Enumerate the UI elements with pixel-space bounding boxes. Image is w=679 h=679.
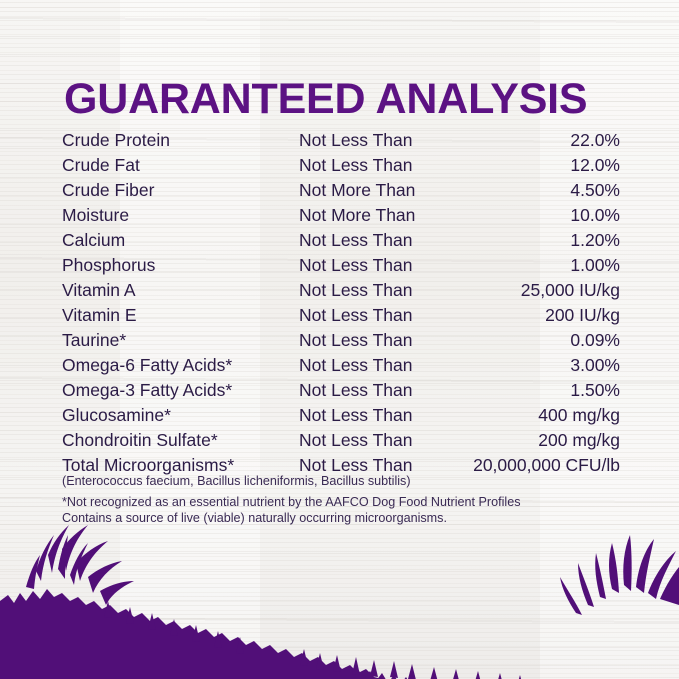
page-title: GUARANTEED ANALYSIS (64, 75, 624, 123)
nutrient-qualifier: Not Less Than (299, 278, 459, 303)
nutrient-name: Moisture (62, 203, 299, 228)
table-row: CalciumNot Less Than1.20% (62, 228, 620, 253)
nutrient-amount: 4.50% (459, 178, 620, 203)
nutrient-name: Glucosamine* (62, 403, 299, 428)
nutrient-amount: 0.09% (459, 328, 620, 353)
nutrient-amount: 10.0% (459, 203, 620, 228)
nutrient-amount: 1.00% (459, 253, 620, 278)
nutrient-name: Chondroitin Sulfate* (62, 428, 299, 453)
table-row: Crude ProteinNot Less Than22.0% (62, 128, 620, 153)
nutrient-name: Phosphorus (62, 253, 299, 278)
nutrient-qualifier: Not Less Than (299, 303, 459, 328)
nutrient-name: Crude Fat (62, 153, 299, 178)
table-row: Omega-6 Fatty Acids*Not Less Than3.00% (62, 353, 620, 378)
disclaimer-line-1: *Not recognized as an essential nutrient… (62, 495, 622, 511)
nutrient-qualifier: Not Less Than (299, 228, 459, 253)
nutrient-name: Omega-6 Fatty Acids* (62, 353, 299, 378)
guaranteed-analysis-table: Crude ProteinNot Less Than22.0%Crude Fat… (62, 128, 620, 478)
nutrient-name: Vitamin E (62, 303, 299, 328)
nutrient-amount: 200 IU/kg (459, 303, 620, 328)
nutrient-qualifier: Not More Than (299, 203, 459, 228)
nutrient-qualifier: Not Less Than (299, 128, 459, 153)
table-row: Omega-3 Fatty Acids*Not Less Than1.50% (62, 378, 620, 403)
nutrient-amount: 400 mg/kg (459, 403, 620, 428)
nutrient-amount: 22.0% (459, 128, 620, 153)
table-row: Crude FatNot Less Than12.0% (62, 153, 620, 178)
nutrient-amount: 20,000,000 CFU/lb (459, 453, 620, 478)
nutrient-name: Vitamin A (62, 278, 299, 303)
table-row: Taurine*Not Less Than0.09% (62, 328, 620, 353)
nutrient-qualifier: Not Less Than (299, 153, 459, 178)
guaranteed-analysis-label: GUARANTEED ANALYSIS Crude ProteinNot Les… (0, 0, 679, 679)
nutrient-name: Calcium (62, 228, 299, 253)
nutrient-amount: 1.50% (459, 378, 620, 403)
nutrient-amount: 1.20% (459, 228, 620, 253)
nutrient-qualifier: Not Less Than (299, 353, 459, 378)
table-row: Chondroitin Sulfate*Not Less Than200 mg/… (62, 428, 620, 453)
nutrient-qualifier: Not Less Than (299, 428, 459, 453)
nutrient-qualifier: Not Less Than (299, 403, 459, 428)
nutrient-qualifier: Not Less Than (299, 378, 459, 403)
table-row: Vitamin ANot Less Than25,000 IU/kg (62, 278, 620, 303)
nutrient-name: Taurine* (62, 328, 299, 353)
nutrient-qualifier: Not More Than (299, 178, 459, 203)
probiotic-strains-note: (Enterococcus faecium, Bacillus lichenif… (62, 473, 411, 489)
nutrient-qualifier: Not Less Than (299, 328, 459, 353)
table-row: Glucosamine*Not Less Than400 mg/kg (62, 403, 620, 428)
nutrient-name: Omega-3 Fatty Acids* (62, 378, 299, 403)
table-row: Crude FiberNot More Than4.50% (62, 178, 620, 203)
nutrient-amount: 3.00% (459, 353, 620, 378)
nutrient-amount: 25,000 IU/kg (459, 278, 620, 303)
table-row: PhosphorusNot Less Than1.00% (62, 253, 620, 278)
nutrient-amount: 200 mg/kg (459, 428, 620, 453)
nutrient-name: Crude Fiber (62, 178, 299, 203)
grass-silhouette-decoration (0, 519, 679, 679)
nutrient-qualifier: Not Less Than (299, 253, 459, 278)
table-row: Vitamin ENot Less Than200 IU/kg (62, 303, 620, 328)
nutrient-amount: 12.0% (459, 153, 620, 178)
nutrient-name: Crude Protein (62, 128, 299, 153)
table-row: MoistureNot More Than10.0% (62, 203, 620, 228)
